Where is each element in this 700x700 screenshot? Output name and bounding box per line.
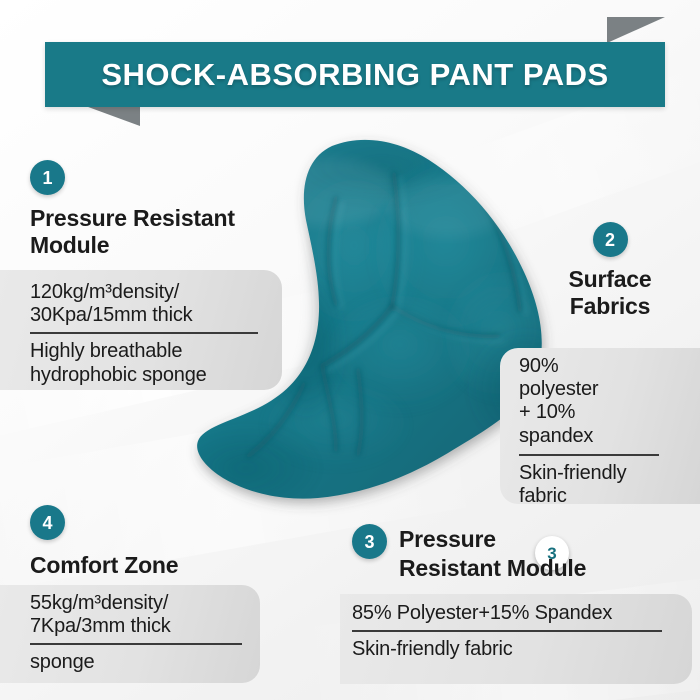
header-banner: SHOCK-ABSORBING PANT PADS [0,0,700,140]
page-title: SHOCK-ABSORBING PANT PADS [101,57,608,93]
section-4-spec-line-1: 55kg/m³density/ [30,592,270,615]
section-1: 1 Pressure Resistant Module [30,160,330,258]
section-2-title-line-1: Surface [520,266,700,293]
section-2-title-line-2: Fabrics [520,293,700,320]
section-1-title: Pressure Resistant Module [30,205,320,258]
section-2-badge-row: 2 [520,222,700,266]
section-3-text: 85% Polyester+15% Spandex Skin-friendly … [352,602,692,661]
section-2-spec-line-2: polyester [519,378,694,401]
section-1-spec-line-1: 120kg/m³density/ [30,281,282,304]
section-2: 2 Surface Fabrics [520,222,700,319]
section-2-spec-line-3: + 10% [519,401,694,424]
section-2-text: 90% polyester + 10% spandex Skin-friendl… [519,355,694,508]
section-4-badge: 4 [30,505,65,540]
badge-number: 1 [42,169,52,187]
section-4-spec-line-2: 7Kpa/3mm thick [30,615,270,638]
section-1-text: 120kg/m³density/ 30Kpa/15mm thick Highly… [30,281,282,387]
section-3-badge: 3 [352,524,387,559]
section-3-detail-line-1: Skin-friendly fabric [352,638,692,661]
ribbon-tail-right [607,17,665,43]
section-3-divider [352,630,662,632]
section-4-divider [30,643,242,645]
section-4-text: 55kg/m³density/ 7Kpa/3mm thick sponge [30,592,270,675]
ribbon-tail-left [80,104,140,126]
section-3-spec-line-1: 85% Polyester+15% Spandex [352,602,692,625]
section-2-spec-line-4: spandex [519,425,694,448]
section-1-badge: 1 [30,160,65,195]
section-1-badge-row: 1 [30,160,330,195]
section-3-title-line-1: Pressure [399,524,586,553]
section-2-spec-line-1: 90% [519,355,694,378]
section-4-badge-row: 4 [30,505,330,540]
section-1-detail-line-1: Highly breathable [30,340,282,363]
section-1-spec-line-2: 30Kpa/15mm thick [30,304,282,327]
section-4-detail-line-1: sponge [30,651,270,674]
badge-number: 3 [364,533,374,551]
section-2-divider [519,454,659,456]
section-4-title: Comfort Zone [30,552,330,579]
badge-number: 4 [42,514,52,532]
section-4: 4 Comfort Zone [30,505,330,579]
ribbon-body: SHOCK-ABSORBING PANT PADS [45,42,665,107]
section-3: 3 Pressure Resistant Module [352,524,682,581]
section-2-badge: 2 [593,222,628,257]
section-1-divider [30,332,258,334]
badge-number: 2 [605,231,615,249]
section-3-title-line-2: Resistant Module [399,553,586,582]
section-2-detail-line-1: Skin-friendly [519,462,694,485]
section-3-header: 3 Pressure Resistant Module [352,524,682,581]
section-2-detail-line-2: fabric [519,485,694,508]
section-3-title-block: Pressure Resistant Module [399,524,586,581]
section-1-detail-line-2: hydrophobic sponge [30,364,282,387]
